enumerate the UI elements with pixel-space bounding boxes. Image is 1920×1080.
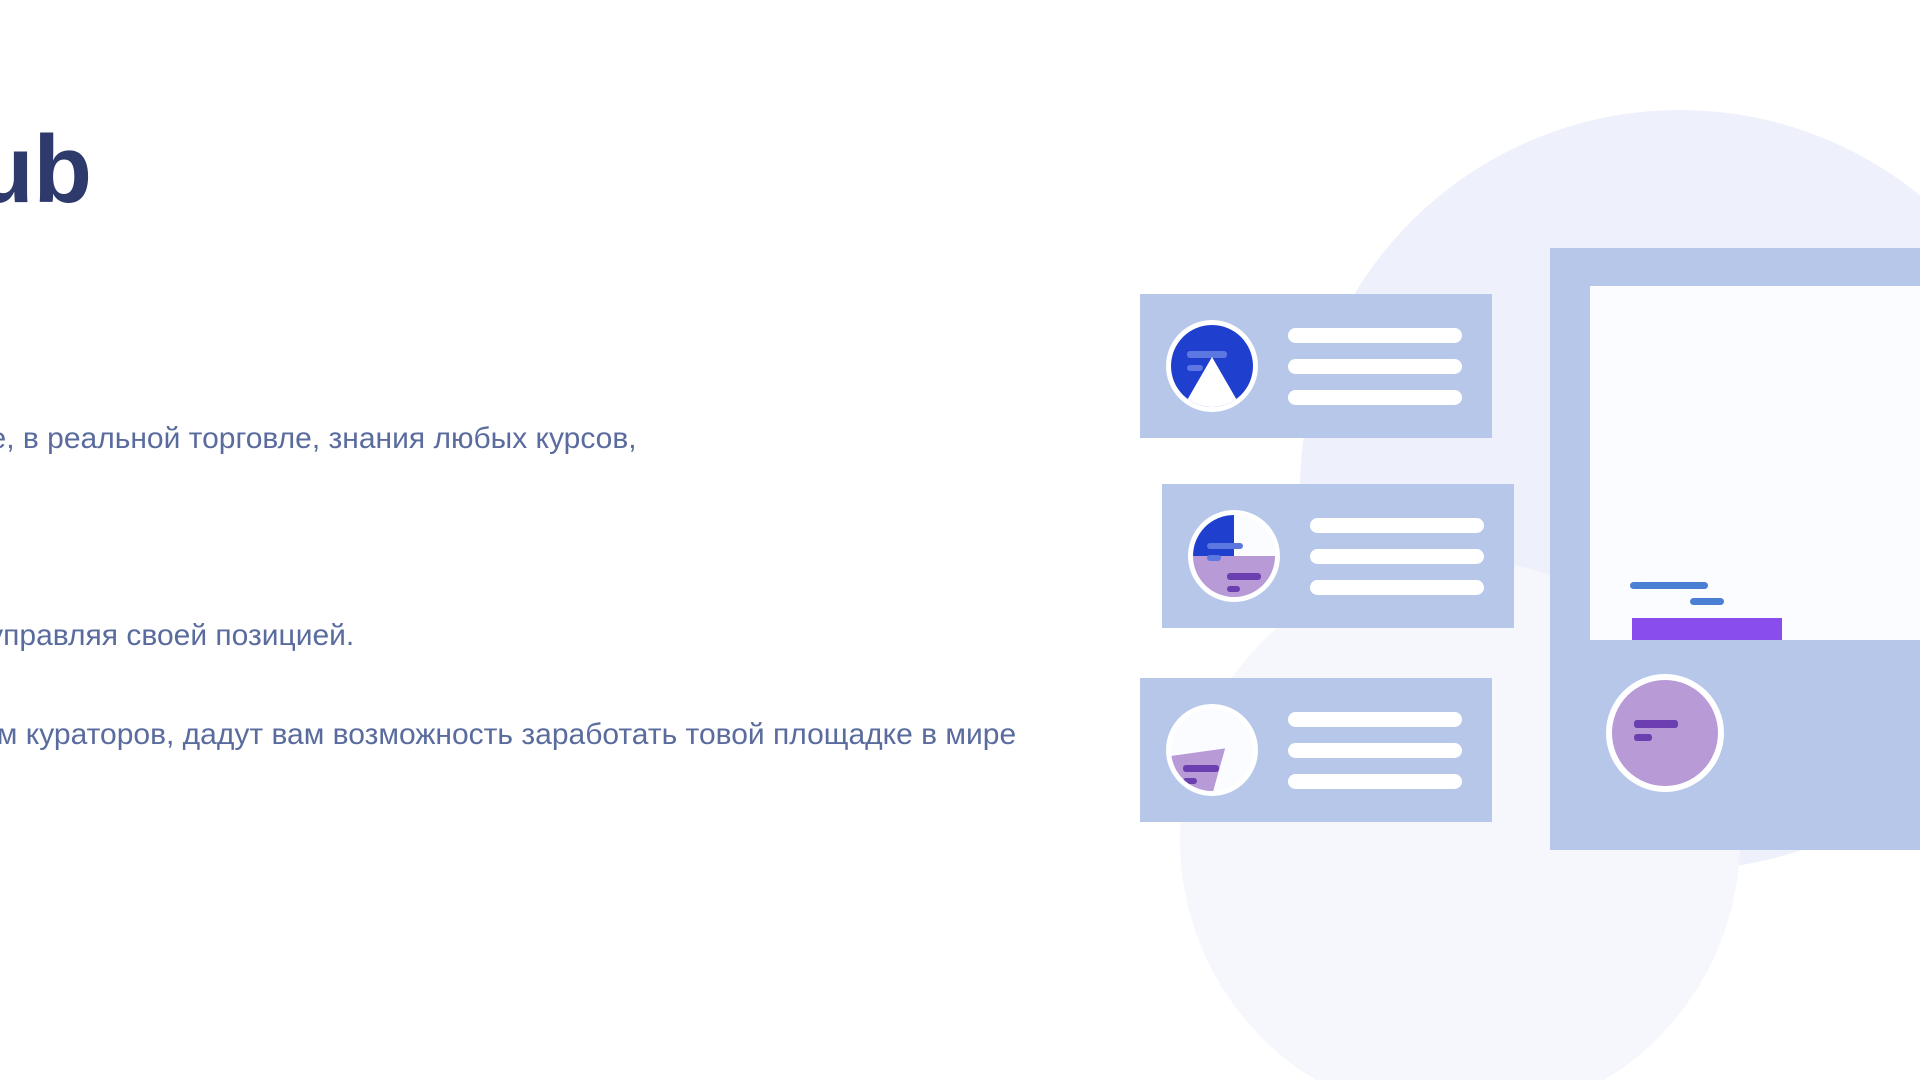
placeholder-line — [1288, 390, 1462, 405]
chart-disc — [1171, 325, 1253, 407]
pie-chart-icon — [1188, 510, 1280, 602]
slice-marker-bar-small — [1183, 778, 1197, 784]
mountain-chart-icon — [1166, 320, 1258, 412]
chart-disc — [1193, 515, 1275, 597]
purple-circle-ring — [1606, 674, 1724, 792]
slice-marker-bar — [1227, 573, 1261, 580]
chart-ring — [1166, 320, 1258, 412]
hero-paragraph-2: orex и crypto. — [0, 517, 1070, 560]
slice-marker-bar — [1634, 720, 1678, 728]
card-quarter-pie-chart — [1162, 484, 1514, 628]
placeholder-line — [1288, 774, 1462, 789]
placeholder-line — [1310, 549, 1484, 564]
pie-slice-white — [1234, 515, 1275, 556]
slice-marker-bar — [1183, 765, 1219, 772]
card-text-placeholder-lines — [1310, 518, 1488, 595]
card-text-placeholder-lines — [1288, 328, 1466, 405]
chart-ring — [1188, 510, 1280, 602]
mountain-wedge — [1182, 357, 1242, 407]
card-mountain-chart — [1140, 294, 1492, 438]
slice-marker-bar-small — [1634, 734, 1652, 741]
panel-tick2-icon — [1690, 598, 1724, 605]
trading-dashboard-illustration — [1120, 0, 1920, 1080]
slice-marker-bar-small — [1207, 555, 1221, 561]
hero-paragraph-3: дход в торговле, управляя своей позицией… — [0, 615, 1070, 658]
hero-body-text: ывать на практике, в реальной торговле, … — [0, 418, 1070, 799]
placeholder-line — [1288, 743, 1462, 758]
placeholder-line — [1288, 328, 1462, 343]
card-text-placeholder-lines — [1288, 712, 1466, 789]
page-title: нт Club — [0, 118, 1090, 222]
pie-slice-blue — [1193, 515, 1234, 556]
hero-text-column: нт Club ывать на практике, в реальной то… — [0, 0, 1090, 1080]
panel-tick-icon — [1630, 582, 1708, 589]
placeholder-line — [1310, 580, 1484, 595]
placeholder-line — [1310, 518, 1484, 533]
slice-marker-bar — [1207, 543, 1243, 549]
hero-section: нт Club ывать на практике, в реальной то… — [0, 0, 1920, 1080]
card-wedge-pie-chart — [1140, 678, 1492, 822]
hero-paragraph-4: м сопровождением кураторов, дадут вам во… — [0, 714, 1070, 799]
placeholder-line — [1288, 359, 1462, 374]
hero-paragraph-1: ывать на практике, в реальной торговле, … — [0, 418, 1070, 461]
purple-circle-card — [1550, 640, 1920, 850]
chart-disc — [1171, 709, 1253, 791]
purple-circle-disc — [1612, 680, 1718, 786]
pie-wedge-chart-icon — [1166, 704, 1258, 796]
placeholder-line — [1288, 712, 1462, 727]
slice-marker-bar-small — [1227, 586, 1240, 592]
chart-ring — [1166, 704, 1258, 796]
